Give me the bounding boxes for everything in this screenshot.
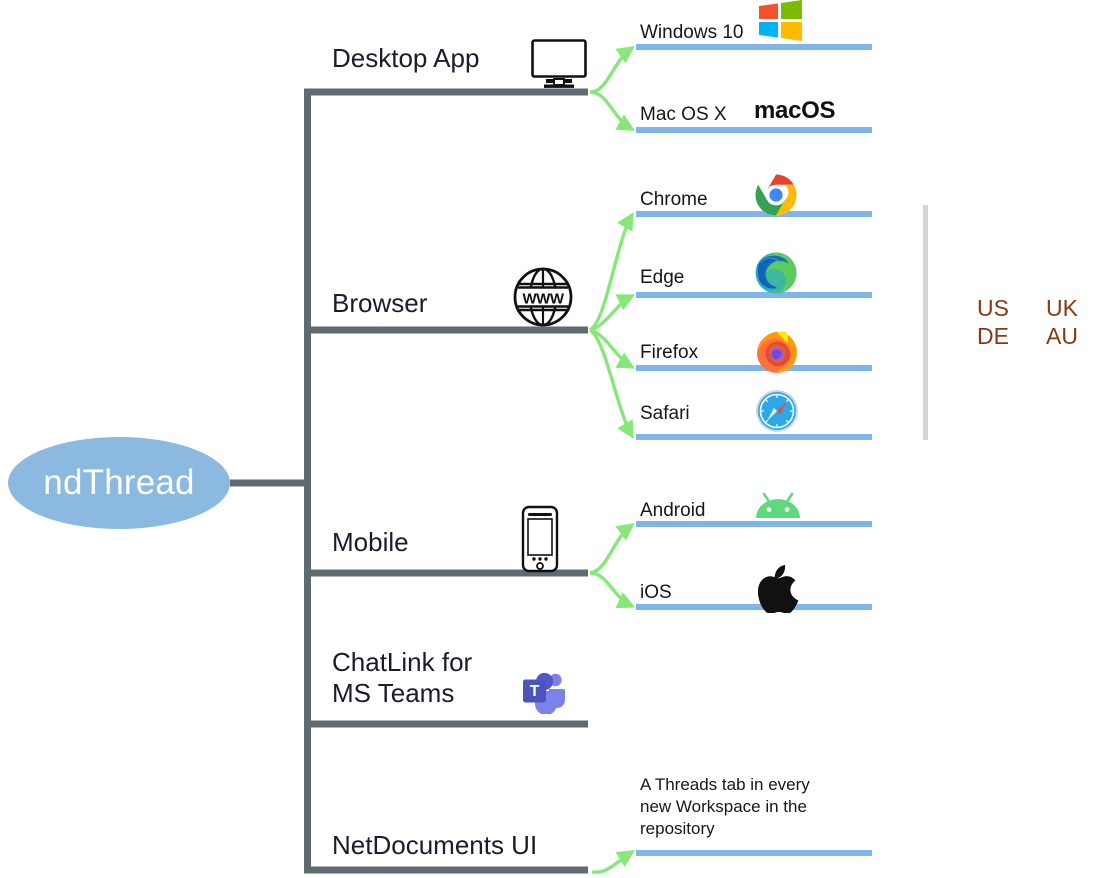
edge-logo-icon bbox=[755, 252, 797, 294]
arrow-to-chrome bbox=[590, 215, 632, 330]
region-code-au: AU bbox=[1046, 322, 1078, 350]
smartphone-icon bbox=[521, 505, 559, 573]
arrow-to-mac-os-x bbox=[590, 92, 632, 129]
green-arrow-group bbox=[590, 48, 632, 872]
leaf-label-ios[interactable]: iOS bbox=[640, 581, 672, 604]
branch-label-browser[interactable]: Browser bbox=[332, 288, 427, 319]
arrow-to-threads-tab bbox=[592, 852, 632, 872]
leaf-label-edge[interactable]: Edge bbox=[640, 266, 684, 289]
svg-text:T: T bbox=[530, 683, 540, 700]
root-node-label: ndThread bbox=[43, 463, 194, 503]
arrow-to-safari bbox=[590, 330, 632, 436]
branch-label-mobile[interactable]: Mobile bbox=[332, 527, 409, 558]
macos-wordmark-icon: macOS bbox=[754, 97, 835, 125]
arrow-to-windows-10 bbox=[590, 48, 632, 92]
arrow-to-ios bbox=[590, 573, 632, 606]
apple-logo-icon bbox=[757, 565, 799, 613]
leaf-label-firefox[interactable]: Firefox bbox=[640, 341, 698, 364]
svg-text:WWW: WWW bbox=[523, 291, 565, 308]
safari-logo-icon bbox=[755, 389, 799, 433]
firefox-logo-icon bbox=[755, 330, 799, 374]
windows-logo-icon bbox=[757, 0, 805, 42]
microsoft-teams-icon: T bbox=[521, 670, 567, 714]
connector-lines bbox=[0, 0, 1093, 878]
region-code-de: DE bbox=[977, 322, 1009, 350]
leaf-label-threads-tab-note: A Threads tab in every new Workspace in … bbox=[640, 774, 870, 840]
leaf-label-chrome[interactable]: Chrome bbox=[640, 188, 708, 211]
region-divider bbox=[923, 205, 928, 440]
region-code-uk: UK bbox=[1046, 294, 1078, 322]
leaf-label-safari[interactable]: Safari bbox=[640, 402, 690, 425]
branch-label-desktop-app[interactable]: Desktop App bbox=[332, 43, 479, 74]
chrome-logo-icon bbox=[755, 174, 797, 216]
leaf-label-mac-os-x[interactable]: Mac OS X bbox=[640, 103, 727, 126]
root-node[interactable]: ndThread bbox=[8, 437, 230, 529]
arrow-to-edge bbox=[590, 296, 632, 330]
www-globe-icon: WWW bbox=[512, 266, 574, 328]
region-code-us: US bbox=[977, 294, 1009, 322]
leaf-label-windows-10[interactable]: Windows 10 bbox=[640, 21, 744, 44]
arrow-to-android bbox=[590, 525, 632, 573]
branch-label-chatlink-for-ms-teams[interactable]: ChatLink for MS Teams bbox=[332, 647, 472, 709]
leaf-label-android[interactable]: Android bbox=[640, 499, 706, 522]
arrow-to-firefox bbox=[590, 330, 632, 367]
desktop-monitor-icon bbox=[530, 38, 588, 90]
mindmap-diagram: ndThread Desktop App Browser Mobile Chat… bbox=[0, 0, 1093, 878]
android-robot-icon bbox=[751, 492, 805, 522]
branch-label-netdocuments-ui[interactable]: NetDocuments UI bbox=[332, 830, 537, 861]
